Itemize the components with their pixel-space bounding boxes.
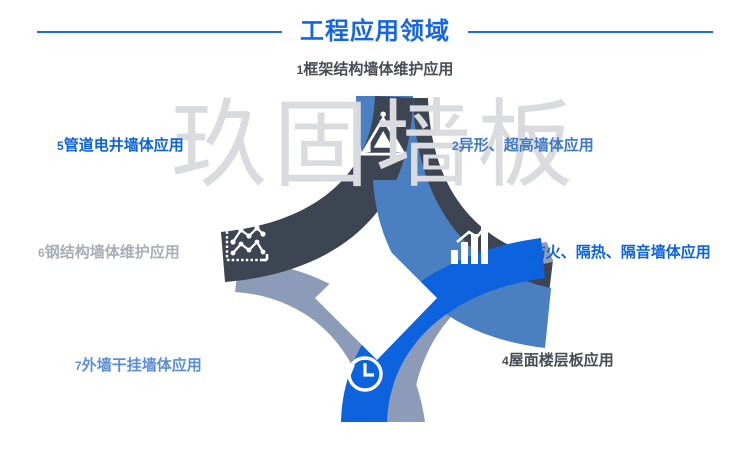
label-5-number: 5 <box>57 139 64 153</box>
label-2-text: 异形、超高墙体应用 <box>459 137 594 154</box>
page-title-bar: 工程应用领域 <box>0 12 750 52</box>
label-1-text: 框架结构墙体维护应用 <box>303 61 453 78</box>
page-title: 工程应用领域 <box>300 20 450 44</box>
label-3-text: 防火、隔热、隔音墙体应用 <box>531 244 711 261</box>
label-4-number: 4 <box>502 354 509 368</box>
label-3-number: 3 <box>524 246 531 260</box>
label-1: 1框架结构墙体维护应用 <box>0 62 750 77</box>
label-2-number: 2 <box>452 139 459 153</box>
label-4: 4屋面楼层板应用 <box>502 353 614 368</box>
label-7: 7外墙干挂墙体应用 <box>75 358 202 373</box>
label-3: 3防火、隔热、隔音墙体应用 <box>524 245 711 260</box>
label-4-text: 屋面楼层板应用 <box>509 352 614 369</box>
label-6: 6钢结构墙体维护应用 <box>38 245 180 260</box>
label-2: 2异形、超高墙体应用 <box>452 138 594 153</box>
label-7-text: 外墙干挂墙体应用 <box>82 357 202 374</box>
title-divider-left <box>37 31 282 33</box>
label-5: 5管道电井墙体应用 <box>57 138 184 153</box>
label-7-number: 7 <box>75 359 82 373</box>
label-6-text: 钢结构墙体维护应用 <box>45 244 180 261</box>
label-5-text: 管道电井墙体应用 <box>64 137 184 154</box>
label-6-number: 6 <box>38 246 45 260</box>
title-divider-right <box>468 31 713 33</box>
